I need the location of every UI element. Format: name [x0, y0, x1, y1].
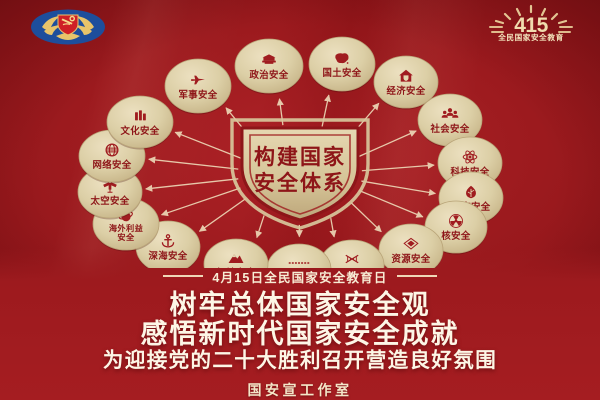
connector-arrow	[146, 179, 238, 189]
connector-arrow	[257, 215, 264, 237]
subhead-row: 4月15日全民国家安全教育日	[0, 268, 600, 284]
connector-arrow	[361, 181, 435, 193]
connector-arrow	[362, 165, 434, 171]
diagram-node[interactable]: 文化安全	[107, 96, 173, 150]
diagram-node-label: 资源安全	[391, 253, 430, 264]
headline-line-1: 树牢总体国家安全观	[0, 291, 600, 319]
connector-arrow	[359, 190, 423, 217]
rule-left-icon	[163, 275, 203, 277]
connector-arrow	[331, 218, 334, 237]
connector-arrow	[322, 95, 329, 126]
signature-text: 国安宣工作室	[0, 380, 600, 400]
diagram-node-label: 安全	[117, 232, 135, 242]
diagram-node-label: 太空安全	[89, 195, 129, 206]
diagram-node[interactable]: 军事安全	[165, 59, 231, 115]
diagram-node-label: 经济安全	[386, 85, 425, 96]
center-shield-line1: 构建国家	[254, 145, 346, 169]
rule-right-icon	[397, 275, 437, 277]
diagram-node-label: 文化安全	[119, 125, 159, 136]
bottom-text-block: 4月15日全民国家安全教育日 树牢总体国家安全观 感悟新时代国家安全成就 为迎接…	[0, 268, 600, 400]
diagram-node-label: 军事安全	[178, 89, 217, 100]
center-shield-line2: 安全体系	[254, 171, 346, 195]
diagram-node-label: 政治安全	[249, 69, 288, 80]
poster-canvas: 415 全民国家安全教育	[0, 0, 600, 400]
diagram-node-label: 海外利益	[109, 223, 143, 233]
security-system-diagram: 构建国家 安全体系 政治安全国土安全经济安全社会安全科技安全生态安全核安全资源安…	[0, 28, 600, 268]
diagram-node-label: 深海安全	[148, 250, 187, 261]
subhead-text: 4月15日全民国家安全教育日	[212, 267, 387, 286]
diagram-node-label: 网络安全	[92, 159, 131, 170]
diagram-node-label: 国土安全	[322, 67, 361, 78]
connector-arrow	[351, 203, 381, 232]
diagram-node-label: 社会安全	[429, 123, 469, 134]
diagram-node-label: 核安全	[441, 230, 471, 241]
diagram-node[interactable]: 政治安全	[235, 39, 303, 95]
diagram-node[interactable]: ······	[267, 244, 331, 268]
connector-arrow	[149, 159, 238, 169]
headline-line-3: 为迎接党的二十大胜利召开营造良好氛围	[0, 350, 600, 371]
connector-arrow	[200, 199, 246, 232]
diagram-center-shield: 构建国家 安全体系	[232, 120, 368, 228]
headline-line-2: 感悟新时代国家安全成就	[0, 320, 600, 348]
diagram-node[interactable]: 极地安全	[204, 239, 268, 268]
diagram-node[interactable]: 国土安全	[309, 37, 375, 93]
